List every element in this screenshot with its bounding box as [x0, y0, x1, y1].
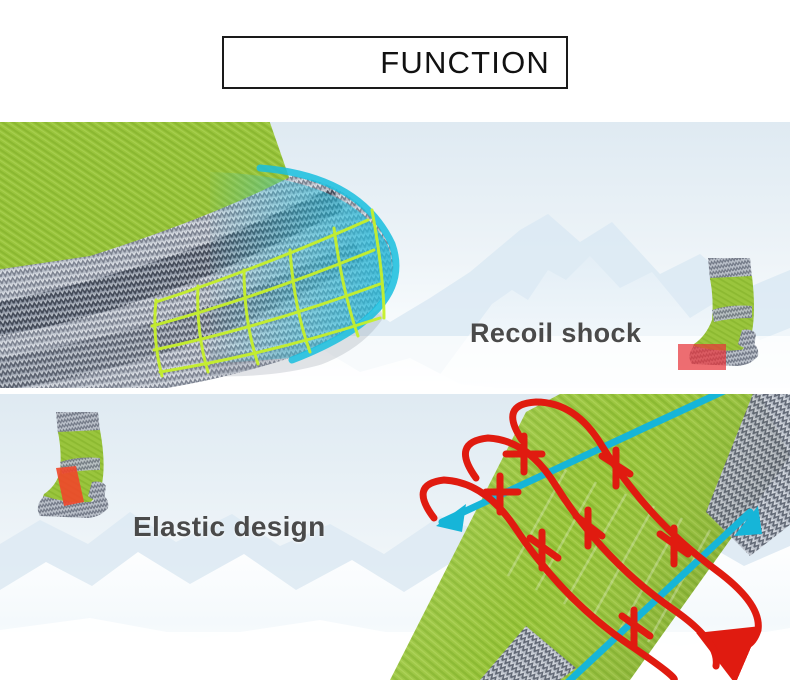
toe-highlight-rectangle	[678, 344, 726, 370]
page-title: FUNCTION	[380, 47, 566, 78]
thumbnail-sock-elastic	[30, 404, 138, 526]
label-recoil-shock: Recoil shock	[470, 318, 641, 349]
page-header: FUNCTION	[0, 0, 790, 122]
sock-foot-illustration	[0, 122, 425, 388]
panel-elastic-design: Elastic design	[0, 394, 790, 680]
panel-recoil-shock: Recoil shock	[0, 122, 790, 388]
label-elastic-design: Elastic design	[133, 511, 326, 543]
thumbnail-sock-recoil	[668, 248, 780, 374]
title-box: FUNCTION	[222, 36, 568, 89]
sock-leg-illustration	[330, 394, 790, 680]
